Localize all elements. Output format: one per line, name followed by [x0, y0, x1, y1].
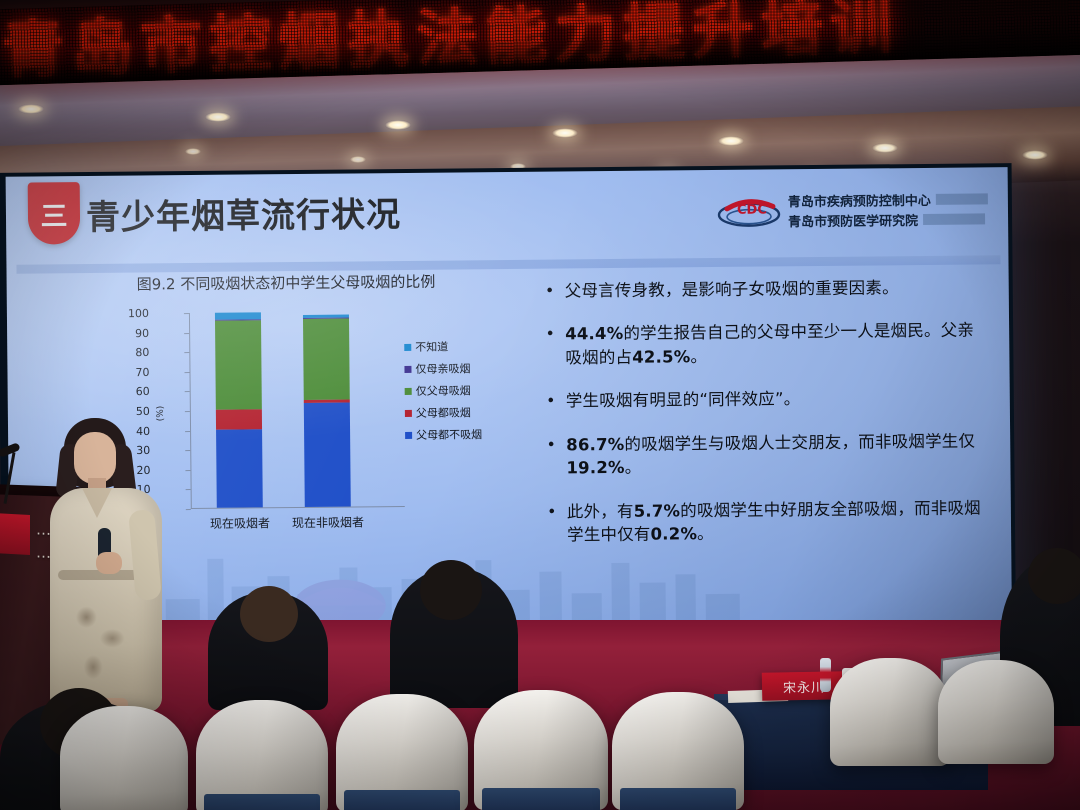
- bar-segment: [303, 318, 350, 400]
- y-axis-tick-mark: [184, 313, 189, 314]
- audience-head: [420, 560, 482, 620]
- bullet-text: 父母言传身教，是影响子女吸烟的重要因素。: [565, 276, 899, 303]
- y-axis-tick-label: 50: [116, 405, 150, 418]
- presenter-face: [74, 432, 116, 484]
- x-axis-tick-label: 现在非吸烟者: [273, 513, 383, 531]
- legend-item: 仅母亲吸烟: [404, 360, 481, 377]
- bullet-text: 44.4%的学生报告自己的父母中至少一人是烟民。父亲吸烟的占42.5%。: [565, 319, 987, 370]
- bullet-item: •父母言传身教，是影响子女吸烟的重要因素。: [547, 275, 987, 303]
- bullet-marker: •: [549, 500, 557, 547]
- y-axis-tick-label: 60: [116, 385, 150, 398]
- y-axis-tick-label: 70: [115, 366, 149, 379]
- bullet-text: 86.7%的吸烟学生与吸烟人士交朋友，而非吸烟学生仅19.2%。: [566, 429, 988, 480]
- cdc-logo-icon: CDC: [717, 194, 781, 229]
- y-axis-tick-mark: [186, 489, 191, 490]
- bullet-marker: •: [548, 433, 556, 480]
- bar-segment: [216, 429, 263, 508]
- ceiling-downlight: [552, 128, 578, 138]
- chart-title: 图9.2 不同吸烟状态初中学生父母吸烟的比例: [137, 271, 436, 295]
- org-line-1: 青岛市疾病预防控制中心: [788, 190, 931, 210]
- legend-label: 仅父母吸烟: [416, 382, 471, 399]
- chair: [60, 706, 188, 810]
- legend-item: 仅父母吸烟: [405, 382, 482, 399]
- ceiling-downlight: [1022, 150, 1048, 160]
- y-axis-tick-mark: [185, 450, 190, 451]
- legend-item: 父母都不吸烟: [405, 426, 482, 443]
- org-line-2: 青岛市预防医学研究院: [788, 210, 918, 230]
- presenter: [36, 418, 184, 710]
- legend-item: 父母都吸烟: [405, 404, 482, 421]
- bullet-item: •86.7%的吸烟学生与吸烟人士交朋友，而非吸烟学生仅19.2%。: [548, 429, 988, 480]
- bullet-marker: •: [547, 280, 555, 303]
- chair: [196, 700, 328, 810]
- chair: [830, 658, 950, 766]
- bar-segment: [215, 320, 262, 410]
- presenter-dress-pattern: [66, 598, 134, 694]
- legend-label: 仅母亲吸烟: [415, 360, 470, 377]
- y-axis-tick-mark: [186, 509, 191, 510]
- y-axis-tick-mark: [185, 391, 190, 392]
- podium-emblem: [0, 513, 30, 555]
- org-bar-2: [923, 213, 985, 225]
- bar-segment: [304, 403, 351, 507]
- slide-header: 三 青少年烟草流行状况 CDC 青岛市疾病预防控制中心: [6, 167, 1009, 269]
- audience-head: [240, 586, 298, 642]
- bullet-item: •此外，有5.7%的吸烟学生中好朋友全部吸烟，而非吸烟学生中仅有0.2%。: [549, 496, 989, 547]
- bullet-item: •44.4%的学生报告自己的父母中至少一人是烟民。父亲吸烟的占42.5%。: [547, 319, 987, 370]
- slide-title: 青少年烟草流行状况: [86, 187, 401, 239]
- y-axis-tick-mark: [184, 352, 189, 353]
- y-axis-tick-mark: [184, 372, 189, 373]
- legend-swatch: [405, 387, 412, 394]
- legend-label: 不知道: [415, 339, 448, 355]
- bullet-text: 此外，有5.7%的吸烟学生中好朋友全部吸烟，而非吸烟学生中仅有0.2%。: [567, 496, 989, 547]
- svg-text:CDC: CDC: [737, 202, 767, 217]
- bullet-text: 学生吸烟有明显的“同伴效应”。: [566, 387, 801, 413]
- ceiling-downlight: [205, 112, 231, 122]
- ceiling-downlight: [718, 136, 744, 146]
- ceiling-downlight: [872, 143, 898, 153]
- bullet-marker: •: [548, 390, 556, 413]
- photo-scene: 青岛市控烟执法能力提升培训 三 青少年烟草流行状况 CDC: [0, 0, 1080, 810]
- y-axis-tick-label: 100: [115, 307, 149, 320]
- y-axis-tick-mark: [185, 470, 190, 471]
- y-axis-tick-mark: [184, 333, 189, 334]
- chair: [612, 692, 744, 810]
- stacked-bar-plot: (%) 0102030405060708090100现在吸烟者现在非吸烟者: [153, 311, 405, 509]
- legend-label: 父母都不吸烟: [416, 426, 482, 443]
- audience-head: [1028, 548, 1080, 604]
- water-bottle: [820, 658, 831, 692]
- bullet-item: •学生吸烟有明显的“同伴效应”。: [548, 386, 988, 414]
- chair: [474, 690, 608, 810]
- ceiling-downlight: [385, 120, 411, 130]
- bullet-list: •父母言传身教，是影响子女吸烟的重要因素。•44.4%的学生报告自己的父母中至少…: [547, 275, 990, 567]
- y-axis-tick-mark: [185, 411, 190, 412]
- stacked-bar: [215, 312, 263, 507]
- chart-legend: 不知道仅母亲吸烟仅父母吸烟父母都吸烟父母都不吸烟: [404, 338, 482, 449]
- presenter-hand: [96, 552, 122, 574]
- organization-logo: CDC 青岛市疾病预防控制中心 青岛市预防医学研究院: [717, 189, 988, 231]
- legend-label: 父母都吸烟: [416, 404, 471, 421]
- org-bar-1: [936, 193, 988, 204]
- section-number-badge: 三: [28, 182, 81, 244]
- y-axis-tick-label: 80: [115, 346, 149, 359]
- bullet-marker: •: [547, 323, 555, 370]
- chair: [336, 694, 468, 810]
- ceiling-downlight: [350, 156, 366, 163]
- legend-swatch: [405, 431, 412, 438]
- ceiling-downlight: [18, 104, 44, 114]
- legend-swatch: [404, 365, 411, 372]
- bar-segment: [216, 409, 262, 429]
- legend-swatch: [405, 409, 412, 416]
- stacked-bar: [303, 314, 351, 506]
- ceiling-downlight: [185, 148, 201, 155]
- legend-swatch: [404, 343, 411, 350]
- y-axis-tick-label: 90: [115, 327, 149, 340]
- chair: [938, 660, 1054, 764]
- y-axis-tick-mark: [185, 431, 190, 432]
- legend-item: 不知道: [404, 338, 481, 355]
